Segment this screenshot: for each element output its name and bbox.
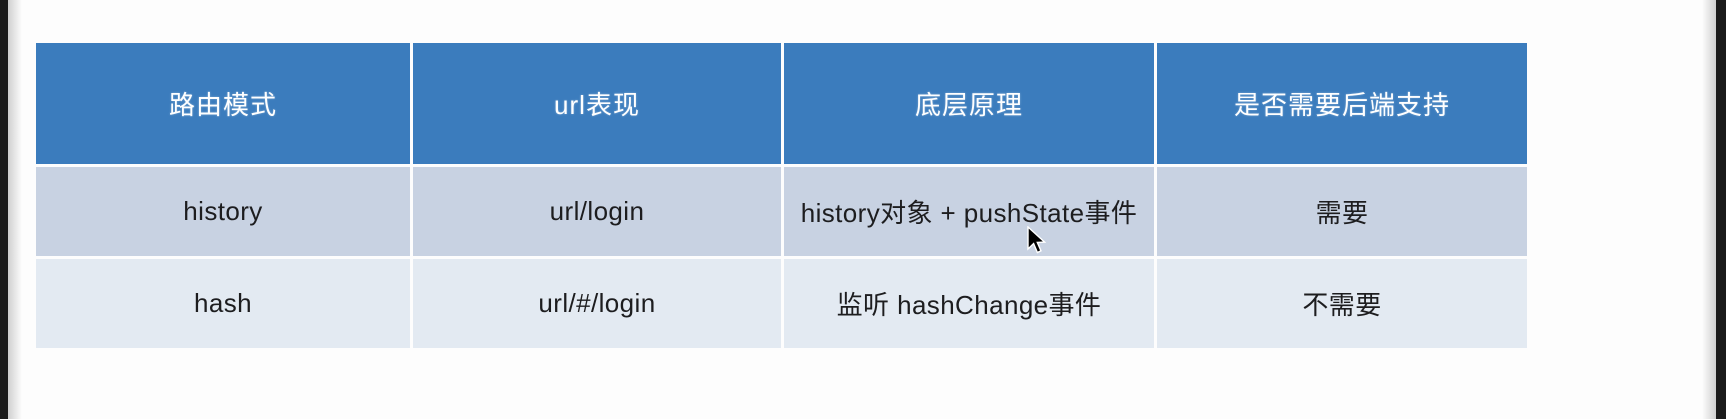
- cell-principle-history: history对象 + pushState事件: [784, 167, 1154, 256]
- table-row: hash url/#/login 监听 hashChange事件 不需要: [36, 259, 1527, 348]
- table-header: 路由模式 url表现 底层原理 是否需要后端支持: [36, 43, 1527, 164]
- slide-right-edge: [1716, 0, 1726, 419]
- cell-backend-history: 需要: [1157, 167, 1527, 256]
- slide-left-shadow: [8, 0, 22, 419]
- slide-canvas: 路由模式 url表现 底层原理 是否需要后端支持 history url/log…: [0, 0, 1726, 419]
- column-header-url-appearance[interactable]: url表现: [413, 43, 781, 164]
- cell-mode-hash: hash: [36, 259, 410, 348]
- route-mode-comparison-table: 路由模式 url表现 底层原理 是否需要后端支持 history url/log…: [33, 40, 1530, 351]
- cell-url-hash: url/#/login: [413, 259, 781, 348]
- cell-url-history: url/login: [413, 167, 781, 256]
- slide-right-shadow: [1702, 0, 1716, 419]
- table-body: history url/login history对象 + pushState事…: [36, 167, 1527, 348]
- cell-principle-hash: 监听 hashChange事件: [784, 259, 1154, 348]
- table-row: history url/login history对象 + pushState事…: [36, 167, 1527, 256]
- column-header-backend-support[interactable]: 是否需要后端支持: [1157, 43, 1527, 164]
- column-header-route-mode[interactable]: 路由模式: [36, 43, 410, 164]
- cell-mode-history: history: [36, 167, 410, 256]
- column-header-underlying-principle[interactable]: 底层原理: [784, 43, 1154, 164]
- comparison-table-container: 路由模式 url表现 底层原理 是否需要后端支持 history url/log…: [36, 43, 1518, 342]
- slide-left-edge: [0, 0, 8, 419]
- table-header-row: 路由模式 url表现 底层原理 是否需要后端支持: [36, 43, 1527, 164]
- cell-backend-hash: 不需要: [1157, 259, 1527, 348]
